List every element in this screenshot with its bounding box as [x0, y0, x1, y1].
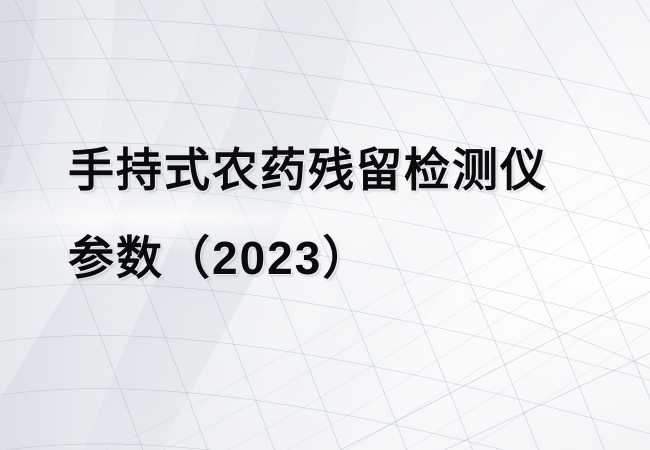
title-line-1: 手持式农药残留检测仪	[68, 126, 588, 214]
banner-title: 手持式农药残留检测仪 参数（2023）	[68, 126, 588, 302]
title-line-2: 参数（2023）	[68, 214, 588, 302]
title-banner: 手持式农药残留检测仪 参数（2023）	[0, 0, 650, 450]
